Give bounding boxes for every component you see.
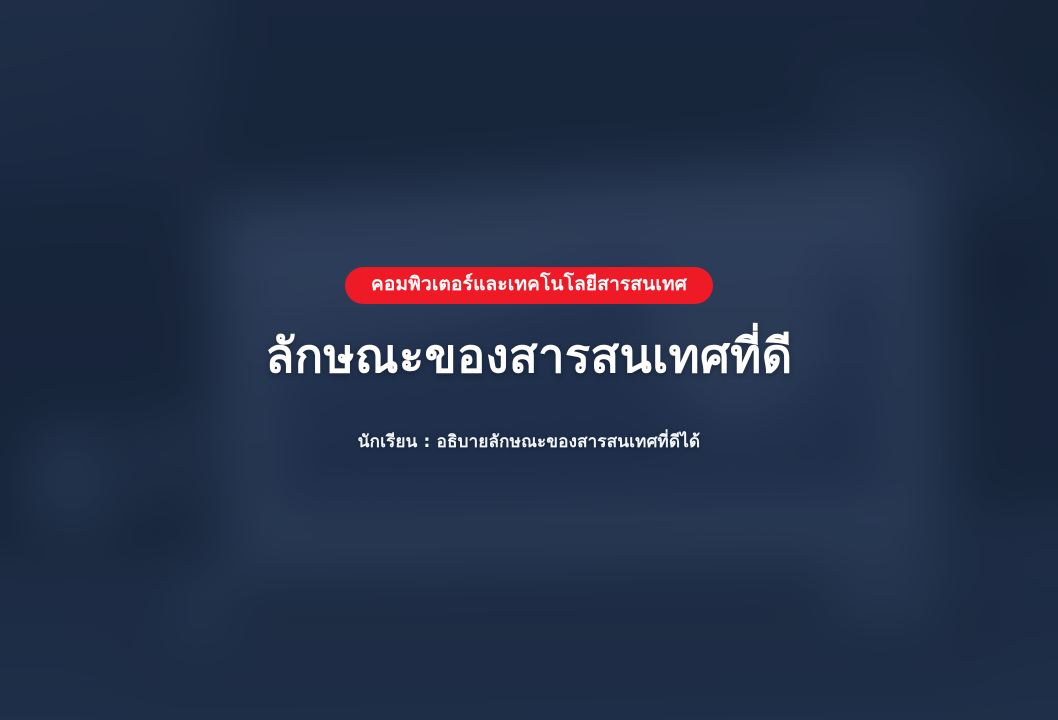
slide-content: คอมพิวเตอร์และเทคโนโลยีสารสนเทศ ลักษณะขอ… [0, 0, 1058, 720]
learning-objective: นักเรียน : อธิบายลักษณะของสารสนเทศที่ดีไ… [358, 432, 700, 452]
page-title: ลักษณะของสารสนเทศที่ดี [265, 332, 792, 383]
title-slide: คอมพิวเตอร์และเทคโนโลยีสารสนเทศ ลักษณะขอ… [0, 0, 1058, 720]
subject-badge: คอมพิวเตอร์และเทคโนโลยีสารสนเทศ [345, 267, 713, 304]
